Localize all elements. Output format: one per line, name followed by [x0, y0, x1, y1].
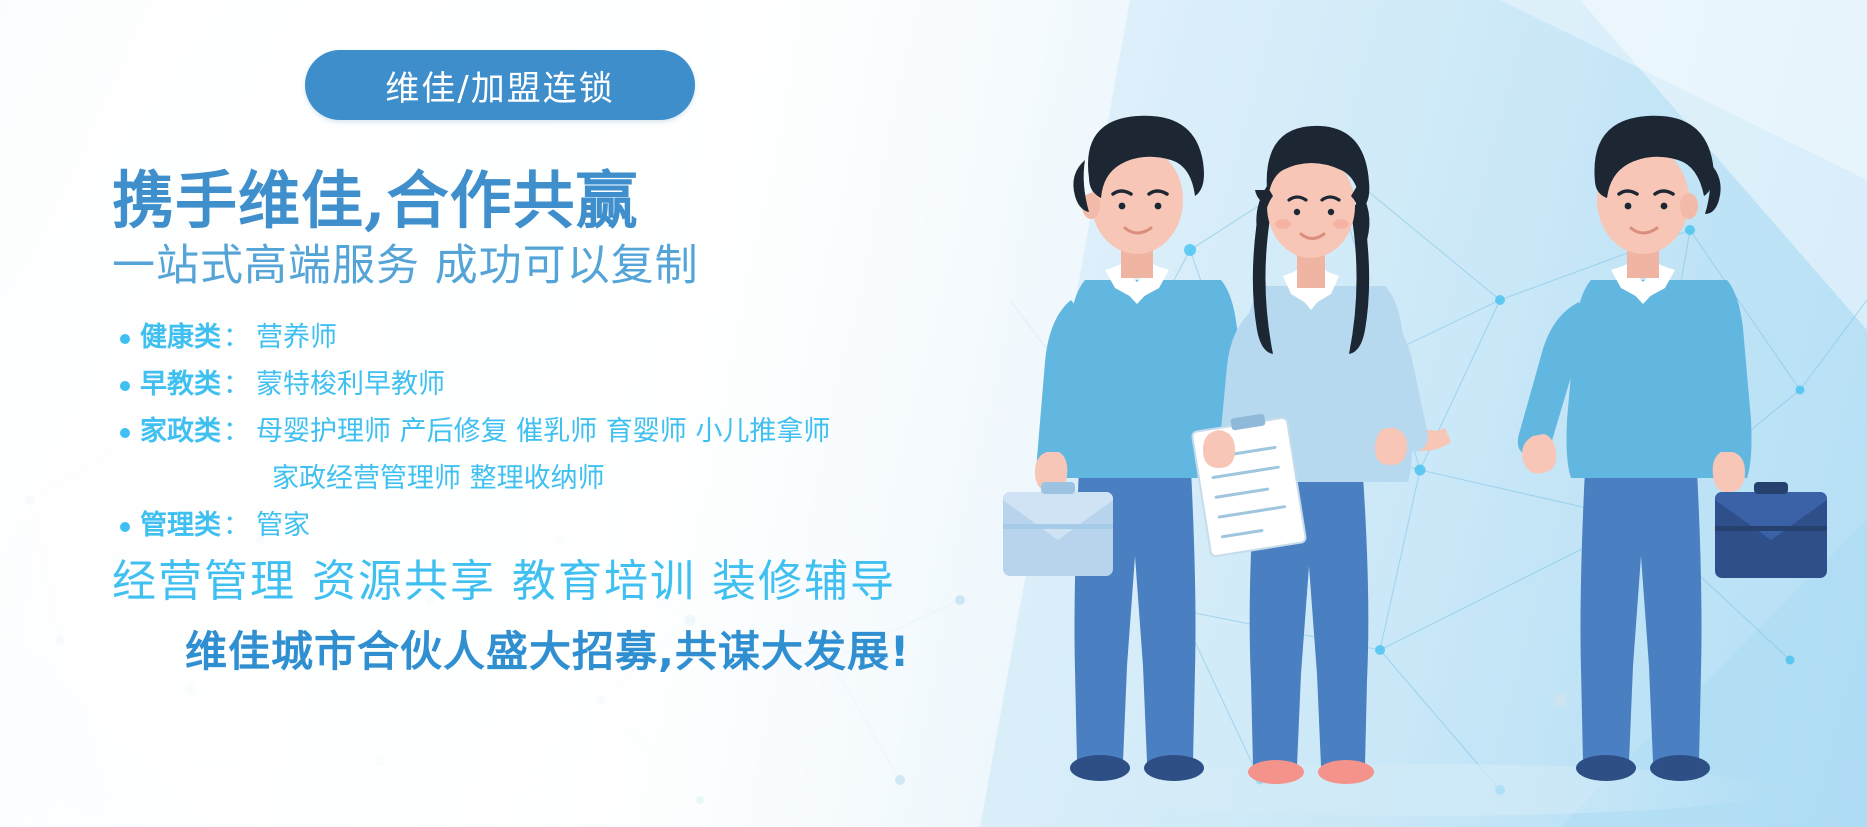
subheadline: 一站式高端服务 成功可以复制: [112, 231, 699, 293]
category-label: 早教类: [140, 365, 221, 405]
category-row: 早教类 ： 蒙特梭利早教师: [120, 365, 940, 405]
category-colon: ：: [221, 318, 252, 358]
briefcase-left: [1003, 482, 1113, 576]
figure-right: [1518, 116, 1827, 781]
category-label: 健康类: [140, 318, 221, 358]
headline: 携手维佳,合作共赢: [112, 150, 639, 240]
category-colon: ：: [221, 412, 252, 452]
category-value: 家政经营管理师 整理收纳师: [268, 459, 605, 499]
category-value: 母婴护理师 产后修复 催乳师 育婴师 小儿推拿师: [252, 412, 830, 452]
bullet-dot-icon: [120, 428, 130, 438]
category-value: 营养师: [252, 318, 337, 358]
category-row: 健康类 ： 营养师: [120, 318, 940, 358]
category-row-continuation: 家政经营管理师 整理收纳师: [120, 459, 940, 499]
category-value: 蒙特梭利早教师: [252, 365, 445, 405]
recruitment-callout: 维佳城市合伙人盛大招募,共谋大发展!: [185, 618, 910, 679]
bullet-dot-icon: [120, 522, 130, 532]
business-people-illustration: [967, 0, 1867, 827]
category-list: 健康类 ： 营养师 早教类 ： 蒙特梭利早教师 家政类 ： 母婴护理师 产后修复…: [120, 318, 940, 553]
figure-center: [1192, 126, 1428, 784]
category-colon: ：: [221, 365, 252, 405]
bullet-dot-icon: [120, 381, 130, 391]
brand-badge[interactable]: 维佳/加盟连锁: [305, 50, 695, 120]
category-row: 家政类 ： 母婴护理师 产后修复 催乳师 育婴师 小儿推拿师: [120, 412, 940, 452]
category-label: 管理类: [140, 506, 221, 546]
bullet-dot-icon: [120, 334, 130, 344]
promo-banner: 维佳/加盟连锁 携手维佳,合作共赢 一站式高端服务 成功可以复制 健康类 ： 营…: [0, 0, 1867, 827]
category-colon: ：: [221, 506, 252, 546]
category-row: 管理类 ： 管家: [120, 506, 940, 546]
services-line: 经营管理 资源共享 教育培训 装修辅导: [112, 545, 896, 609]
category-label: 家政类: [140, 412, 221, 452]
category-value: 管家: [252, 506, 310, 546]
briefcase-right: [1715, 482, 1827, 578]
text-content: 维佳/加盟连锁 携手维佳,合作共赢 一站式高端服务 成功可以复制 健康类 ： 营…: [0, 0, 960, 827]
